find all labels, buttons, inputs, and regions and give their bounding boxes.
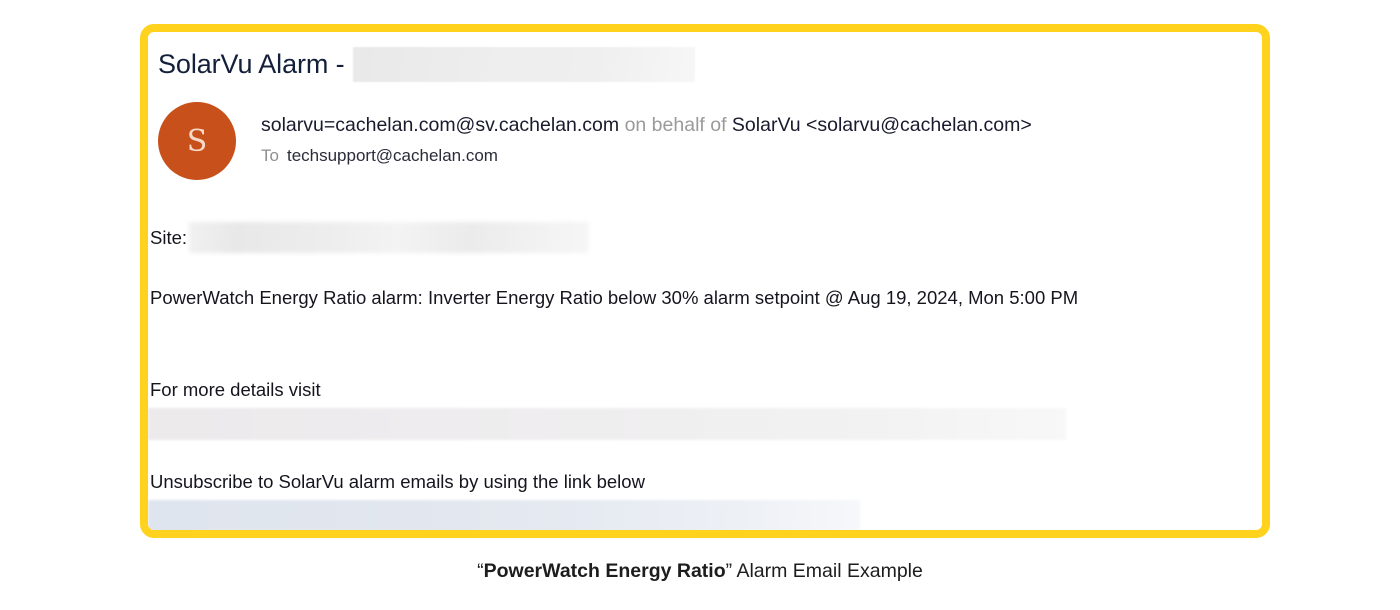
caption-suffix: Alarm Email Example [732, 560, 923, 582]
caption-emphasis: PowerWatch Energy Ratio [484, 560, 726, 582]
details-label: For more details visit [150, 379, 321, 401]
avatar: S [158, 102, 236, 180]
email-sender-block: S solarvu=cachelan.com@sv.cachelan.com o… [158, 102, 1252, 180]
figure-caption: “PowerWatch Energy Ratio” Alarm Email Ex… [0, 560, 1400, 583]
site-label: Site: [150, 227, 187, 249]
redacted-unsubscribe-link[interactable] [148, 500, 860, 532]
redacted-details-link[interactable] [148, 408, 1066, 440]
unsubscribe-label: Unsubscribe to SolarVu alarm emails by u… [150, 471, 645, 493]
sender-display-name: SolarVu <solarvu@cachelan.com> [732, 114, 1032, 136]
avatar-initial: S [187, 124, 208, 159]
alarm-email-card: SolarVu Alarm - S solarvu=cachelan.com@s… [140, 24, 1270, 538]
site-row: Site: [150, 222, 589, 253]
redacted-site-value [189, 222, 589, 253]
sender-behalf-text: on behalf of [625, 114, 727, 136]
sender-line: solarvu=cachelan.com@sv.cachelan.com on … [261, 111, 1032, 139]
recipient-line: Totechsupport@cachelan.com [261, 146, 1032, 166]
redacted-subject-block [353, 47, 695, 82]
sender-address: solarvu=cachelan.com@sv.cachelan.com [261, 114, 619, 136]
email-subject-row: SolarVu Alarm - [158, 44, 1262, 84]
email-subject-text: SolarVu Alarm - [158, 49, 345, 80]
to-address: techsupport@cachelan.com [287, 146, 498, 165]
to-label: To [261, 146, 279, 165]
alarm-message: PowerWatch Energy Ratio alarm: Inverter … [150, 287, 1078, 309]
